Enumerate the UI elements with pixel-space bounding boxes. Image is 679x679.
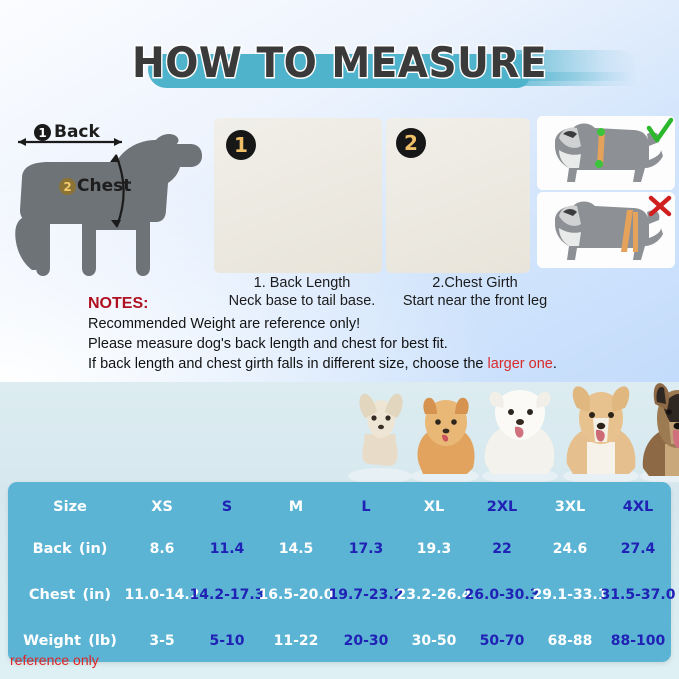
photo-chest-girth: 2 — [386, 118, 530, 273]
chest-label: Chest — [77, 176, 131, 196]
dog-silhouette-icon — [4, 118, 210, 278]
table-cell-size-4xl: 4XL — [590, 490, 679, 524]
table-cell-back-4xl: 27.4 — [590, 532, 679, 566]
notes-line-1: Recommended Weight are reference only! — [88, 314, 658, 334]
photo-back-length: 1 — [214, 118, 382, 273]
caption-chest-line1: 2.Chest Girth — [395, 274, 555, 292]
table-row-chest: Chest (in)11.0-14.214.2-17.316.5-20.019.… — [8, 578, 671, 612]
wrong-dog-illustration — [537, 192, 675, 268]
notes-block: NOTES: Recommended Weight are reference … — [88, 294, 658, 374]
notes-line-2: Please measure dog's back length and che… — [88, 334, 658, 354]
photo-correct-example — [537, 116, 675, 190]
table-rowlabel-back: Back (in) — [10, 532, 130, 566]
table-cell-weight-4xl: 88-100 — [590, 624, 679, 658]
size-chart-table: SizeXSSMLXL2XL3XL4XL Back (in)8.611.414.… — [8, 482, 671, 662]
dog-silhouette-diagram: 1 Back 2 Chest — [4, 118, 210, 278]
dog-corgi-icon — [557, 384, 645, 482]
table-rowlabel-size: Size — [10, 490, 130, 524]
dog-bichon-icon — [477, 386, 563, 482]
dog-german-shepherd-icon — [635, 382, 679, 482]
dog-pomeranian-icon — [407, 392, 483, 482]
correct-dog-illustration — [537, 116, 675, 190]
table-cell-chest-4xl: 31.5-37.0 — [590, 578, 679, 612]
notes-line-3-prefix: If back length and chest girth falls in … — [88, 356, 488, 372]
chest-number-badge: 2 — [59, 178, 76, 195]
caption-back-line1: 1. Back Length — [214, 274, 390, 292]
reference-only-note: reference only — [10, 652, 99, 668]
photo-chest-number-badge: 2 — [396, 128, 426, 158]
dog-chihuahua-icon — [345, 390, 415, 482]
dog-breeds-row — [345, 386, 679, 482]
back-label: Back — [54, 122, 100, 142]
table-rowlabel-chest: Chest (in) — [10, 578, 130, 612]
page-title: HOW TO MEASURE — [24, 34, 655, 92]
photo-back-number-badge: 1 — [226, 130, 256, 160]
table-row-weight: Weight (lb)3-55-1011-2220-3030-5050-7068… — [8, 624, 671, 658]
notes-title: NOTES: — [88, 294, 658, 314]
table-row-back: Back (in)8.611.414.517.319.32224.627.4 — [8, 532, 671, 566]
title-area: HOW TO MEASURE — [0, 34, 679, 100]
notes-line-3-accent: larger one — [488, 356, 553, 372]
notes-line-3-suffix: . — [553, 356, 557, 372]
back-number-badge: 1 — [34, 124, 51, 141]
table-row-header: SizeXSSMLXL2XL3XL4XL — [8, 490, 671, 524]
photo-wrong-example — [537, 192, 675, 268]
top-section: HOW TO MEASURE 1 Back 2 Chest — [0, 0, 679, 382]
notes-line-3: If back length and chest girth falls in … — [88, 354, 658, 374]
